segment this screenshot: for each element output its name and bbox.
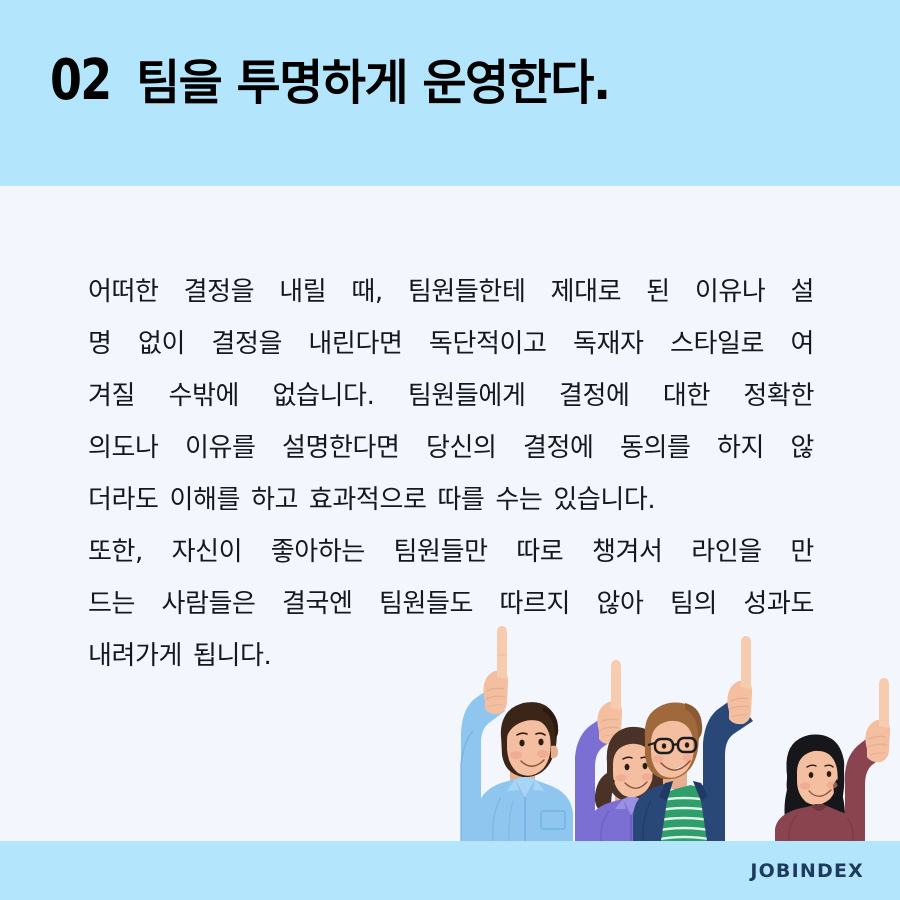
body-word: 있습니다. <box>553 487 655 513</box>
body-word: 수는 <box>495 487 542 513</box>
body-word: 겨질 <box>88 383 135 409</box>
body-word: 내릴 <box>279 279 326 305</box>
body-word: 팀원들도 <box>379 591 473 617</box>
body-word: 챙겨서 <box>592 539 663 565</box>
body-word: 하지 <box>717 435 764 461</box>
footer-band: JOBINDEX <box>0 841 900 900</box>
header-band: 02 팀을 투명하게 운영한다. <box>0 0 900 186</box>
body-word: 의도나 <box>88 435 159 461</box>
body-word: 라인을 <box>691 539 762 565</box>
body-word: 된 <box>646 279 670 305</box>
body-word: 좋아하는 <box>271 539 365 565</box>
body-word: 독재자 <box>573 331 644 357</box>
body-word: 팀원들한테 <box>408 279 526 305</box>
body-word: 팀원들에게 <box>408 383 526 409</box>
body-word: 따를 <box>437 487 484 513</box>
body-word: 결정에 <box>523 435 594 461</box>
infographic-card: 02 팀을 투명하게 운영한다. <box>0 0 900 900</box>
jobindex-logo: JOBINDEX <box>750 860 864 882</box>
body-word: 또한, <box>88 539 143 565</box>
body-word: 정확한 <box>743 383 814 409</box>
body-line: 명없이결정을내린다면독단적이고독재자스타일로여 <box>88 318 814 370</box>
body-word: 때, <box>351 279 382 305</box>
body-word: 결정을 <box>184 279 255 305</box>
header-step-number: 02 <box>50 53 111 109</box>
body-word: 없이 <box>138 331 185 357</box>
body-word: 결정에 <box>559 383 630 409</box>
body-word: 내려가게 <box>88 643 182 669</box>
body-word: 여 <box>790 331 814 357</box>
body-word: 않 <box>790 435 814 461</box>
body-line: 내려가게됩니다. <box>88 630 814 682</box>
body-line: 어떠한결정을내릴때,팀원들한테제대로된이유나설 <box>88 266 814 318</box>
body-word: 수밖에 <box>168 383 239 409</box>
body-line: 또한,자신이좋아하는팀원들만따로챙겨서라인을만 <box>88 526 814 578</box>
body-word: 설 <box>790 279 814 305</box>
body-line: 의도나이유를설명한다면당신의결정에동의를하지않 <box>88 422 814 474</box>
body-word: 동의를 <box>620 435 691 461</box>
body-word: 스타일로 <box>670 331 764 357</box>
body-word: 됩니다. <box>193 643 271 669</box>
body-word: 제대로 <box>551 279 622 305</box>
body-line: 더라도이해를하고효과적으로따를수는있습니다. <box>88 474 814 526</box>
body-word: 이유를 <box>185 435 256 461</box>
body-word: 팀의 <box>670 591 717 617</box>
body-word: 결국엔 <box>282 591 353 617</box>
figure-woman-maroon-top <box>775 678 890 841</box>
body-line: 겨질수밖에없습니다.팀원들에게결정에대한정확한 <box>88 370 814 422</box>
body-word: 내린다면 <box>308 331 402 357</box>
body-line: 드는사람들은결국엔팀원들도따르지않아팀의성과도 <box>88 578 814 630</box>
body-word: 효과적으로 <box>309 487 427 513</box>
body-word: 자신이 <box>172 539 243 565</box>
body-word: 만 <box>790 539 814 565</box>
body-word: 않아 <box>596 591 643 617</box>
body-word: 성과도 <box>743 591 814 617</box>
body-word: 어떠한 <box>88 279 159 305</box>
body-text-block: 어떠한결정을내릴때,팀원들한테제대로된이유나설 명없이결정을내린다면독단적이고독… <box>88 266 814 682</box>
body-word: 대한 <box>663 383 710 409</box>
body-word: 사람들은 <box>161 591 255 617</box>
body-word: 따르지 <box>499 591 570 617</box>
body-word: 이유나 <box>695 279 766 305</box>
body-word: 이해를 <box>169 487 240 513</box>
body-word: 따로 <box>516 539 563 565</box>
body-word: 더라도 <box>88 487 159 513</box>
body-word: 당신의 <box>426 435 497 461</box>
body-word: 독단적이고 <box>429 331 547 357</box>
body-word: 결정을 <box>211 331 282 357</box>
body-word: 팀원들만 <box>394 539 488 565</box>
body-word: 하고 <box>251 487 298 513</box>
header-heading-group: 02 팀을 투명하게 운영한다. <box>50 53 610 109</box>
body-word: 설명한다면 <box>282 435 400 461</box>
body-word: 없습니다. <box>272 383 374 409</box>
body-word: 명 <box>88 331 112 357</box>
page-title: 팀을 투명하게 운영한다. <box>136 59 610 107</box>
body-word: 드는 <box>88 591 135 617</box>
